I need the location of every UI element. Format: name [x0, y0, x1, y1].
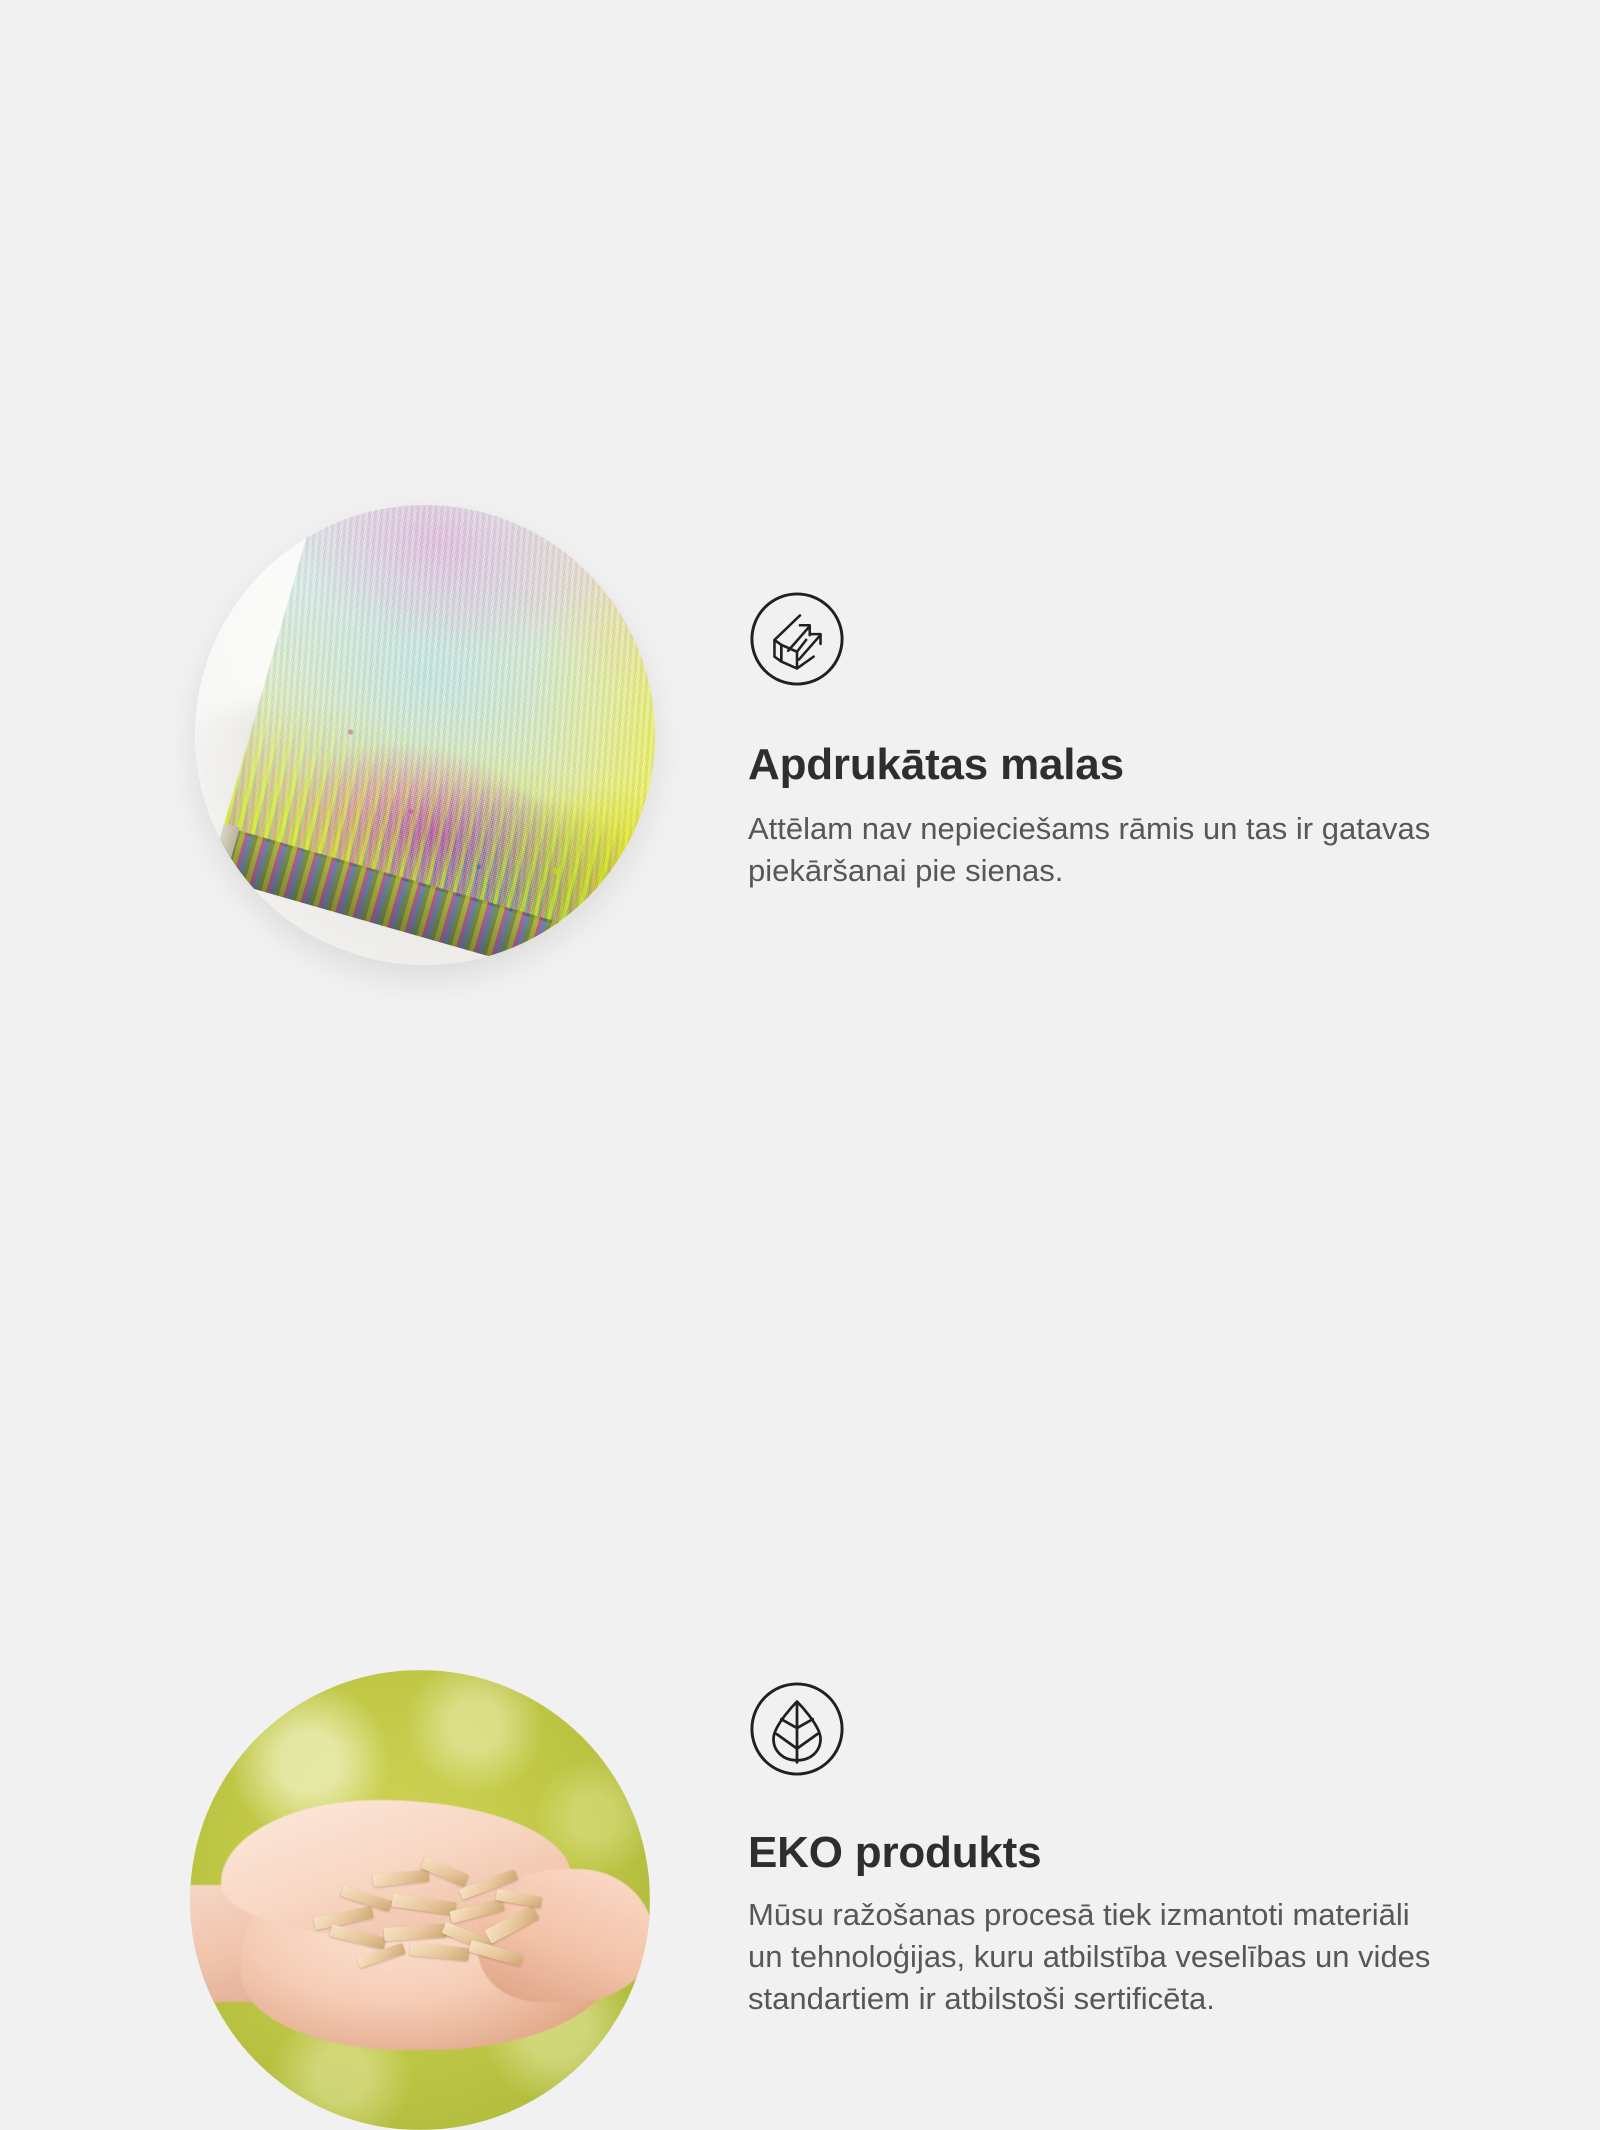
feature-row: Apdrukātas malas Attēlam nav nepieciešam… [0, 250, 1600, 750]
hands-with-wood-chips-photo [190, 1670, 650, 2130]
feature-title: Apdrukātas malas [748, 740, 1478, 790]
canvas-wrapped-edges-icon [748, 590, 846, 688]
eco-photo-circle [190, 1670, 650, 2130]
wood-chips [303, 1858, 571, 1975]
feature-description: Mūsu ražošanas procesā tiek izmantoti ma… [748, 1894, 1448, 2020]
feature-title: EKO produkts [748, 1828, 1478, 1878]
hands-holding-chips [190, 1794, 650, 2061]
leaf-icon [748, 1680, 846, 1778]
feature-text-block: EKO produkts Mūsu ražošanas procesā tiek… [748, 1680, 1478, 2020]
product-feature-panel: Apdrukātas malas Attēlam nav nepieciešam… [0, 0, 1600, 1600]
feature-row: EKO produkts Mūsu ražošanas procesā tiek… [0, 830, 1600, 1330]
